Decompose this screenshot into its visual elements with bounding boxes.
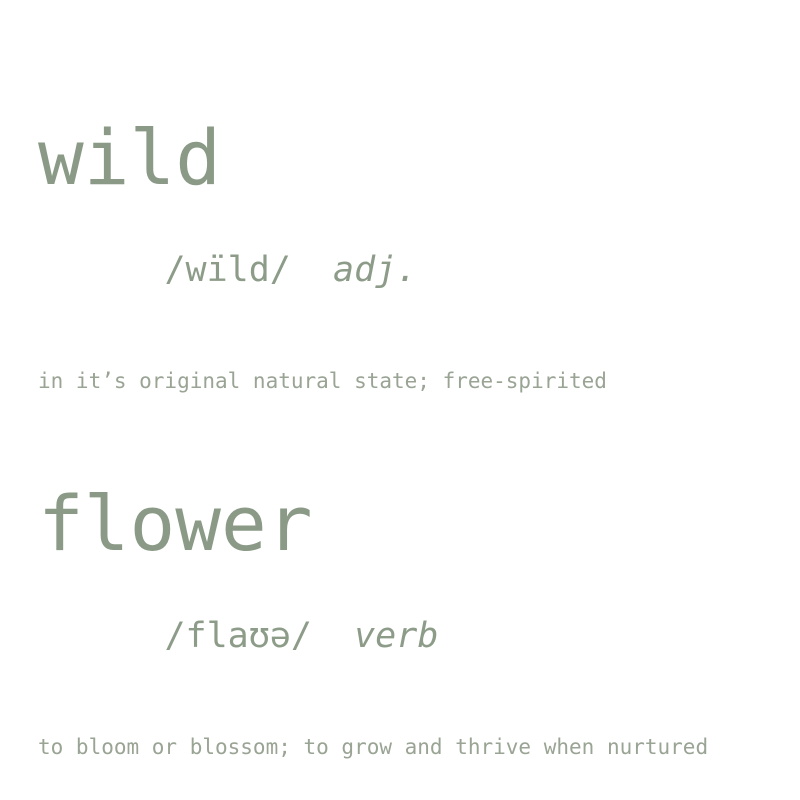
part-of-speech-flower: verb (354, 616, 438, 656)
pronunciation-flower: /flaʊə/ (164, 616, 312, 656)
definition-wild: in it’s original natural state; free-spi… (38, 371, 800, 392)
pronunciation-separator-flower (312, 616, 354, 656)
pronunciation-wild: /wïld/ (164, 250, 290, 290)
dictionary-entry-flower: flower /flaʊə/ verb to bloom or blossom;… (38, 486, 800, 758)
pronunciation-line-flower: /flaʊə/ verb (38, 584, 800, 689)
definition-flower: to bloom or blossom; to grow and thrive … (38, 737, 800, 758)
pronunciation-line-wild: /wïld/ adj. (38, 218, 800, 323)
headword-flower: flower (38, 486, 800, 562)
headword-wild: wild (38, 120, 800, 196)
definition-graphic-canvas: wild /wïld/ adj. in it’s original natura… (0, 0, 800, 800)
pronunciation-separator-wild (291, 250, 333, 290)
part-of-speech-wild: adj. (333, 250, 417, 290)
dictionary-entry-wild: wild /wïld/ adj. in it’s original natura… (38, 120, 800, 392)
